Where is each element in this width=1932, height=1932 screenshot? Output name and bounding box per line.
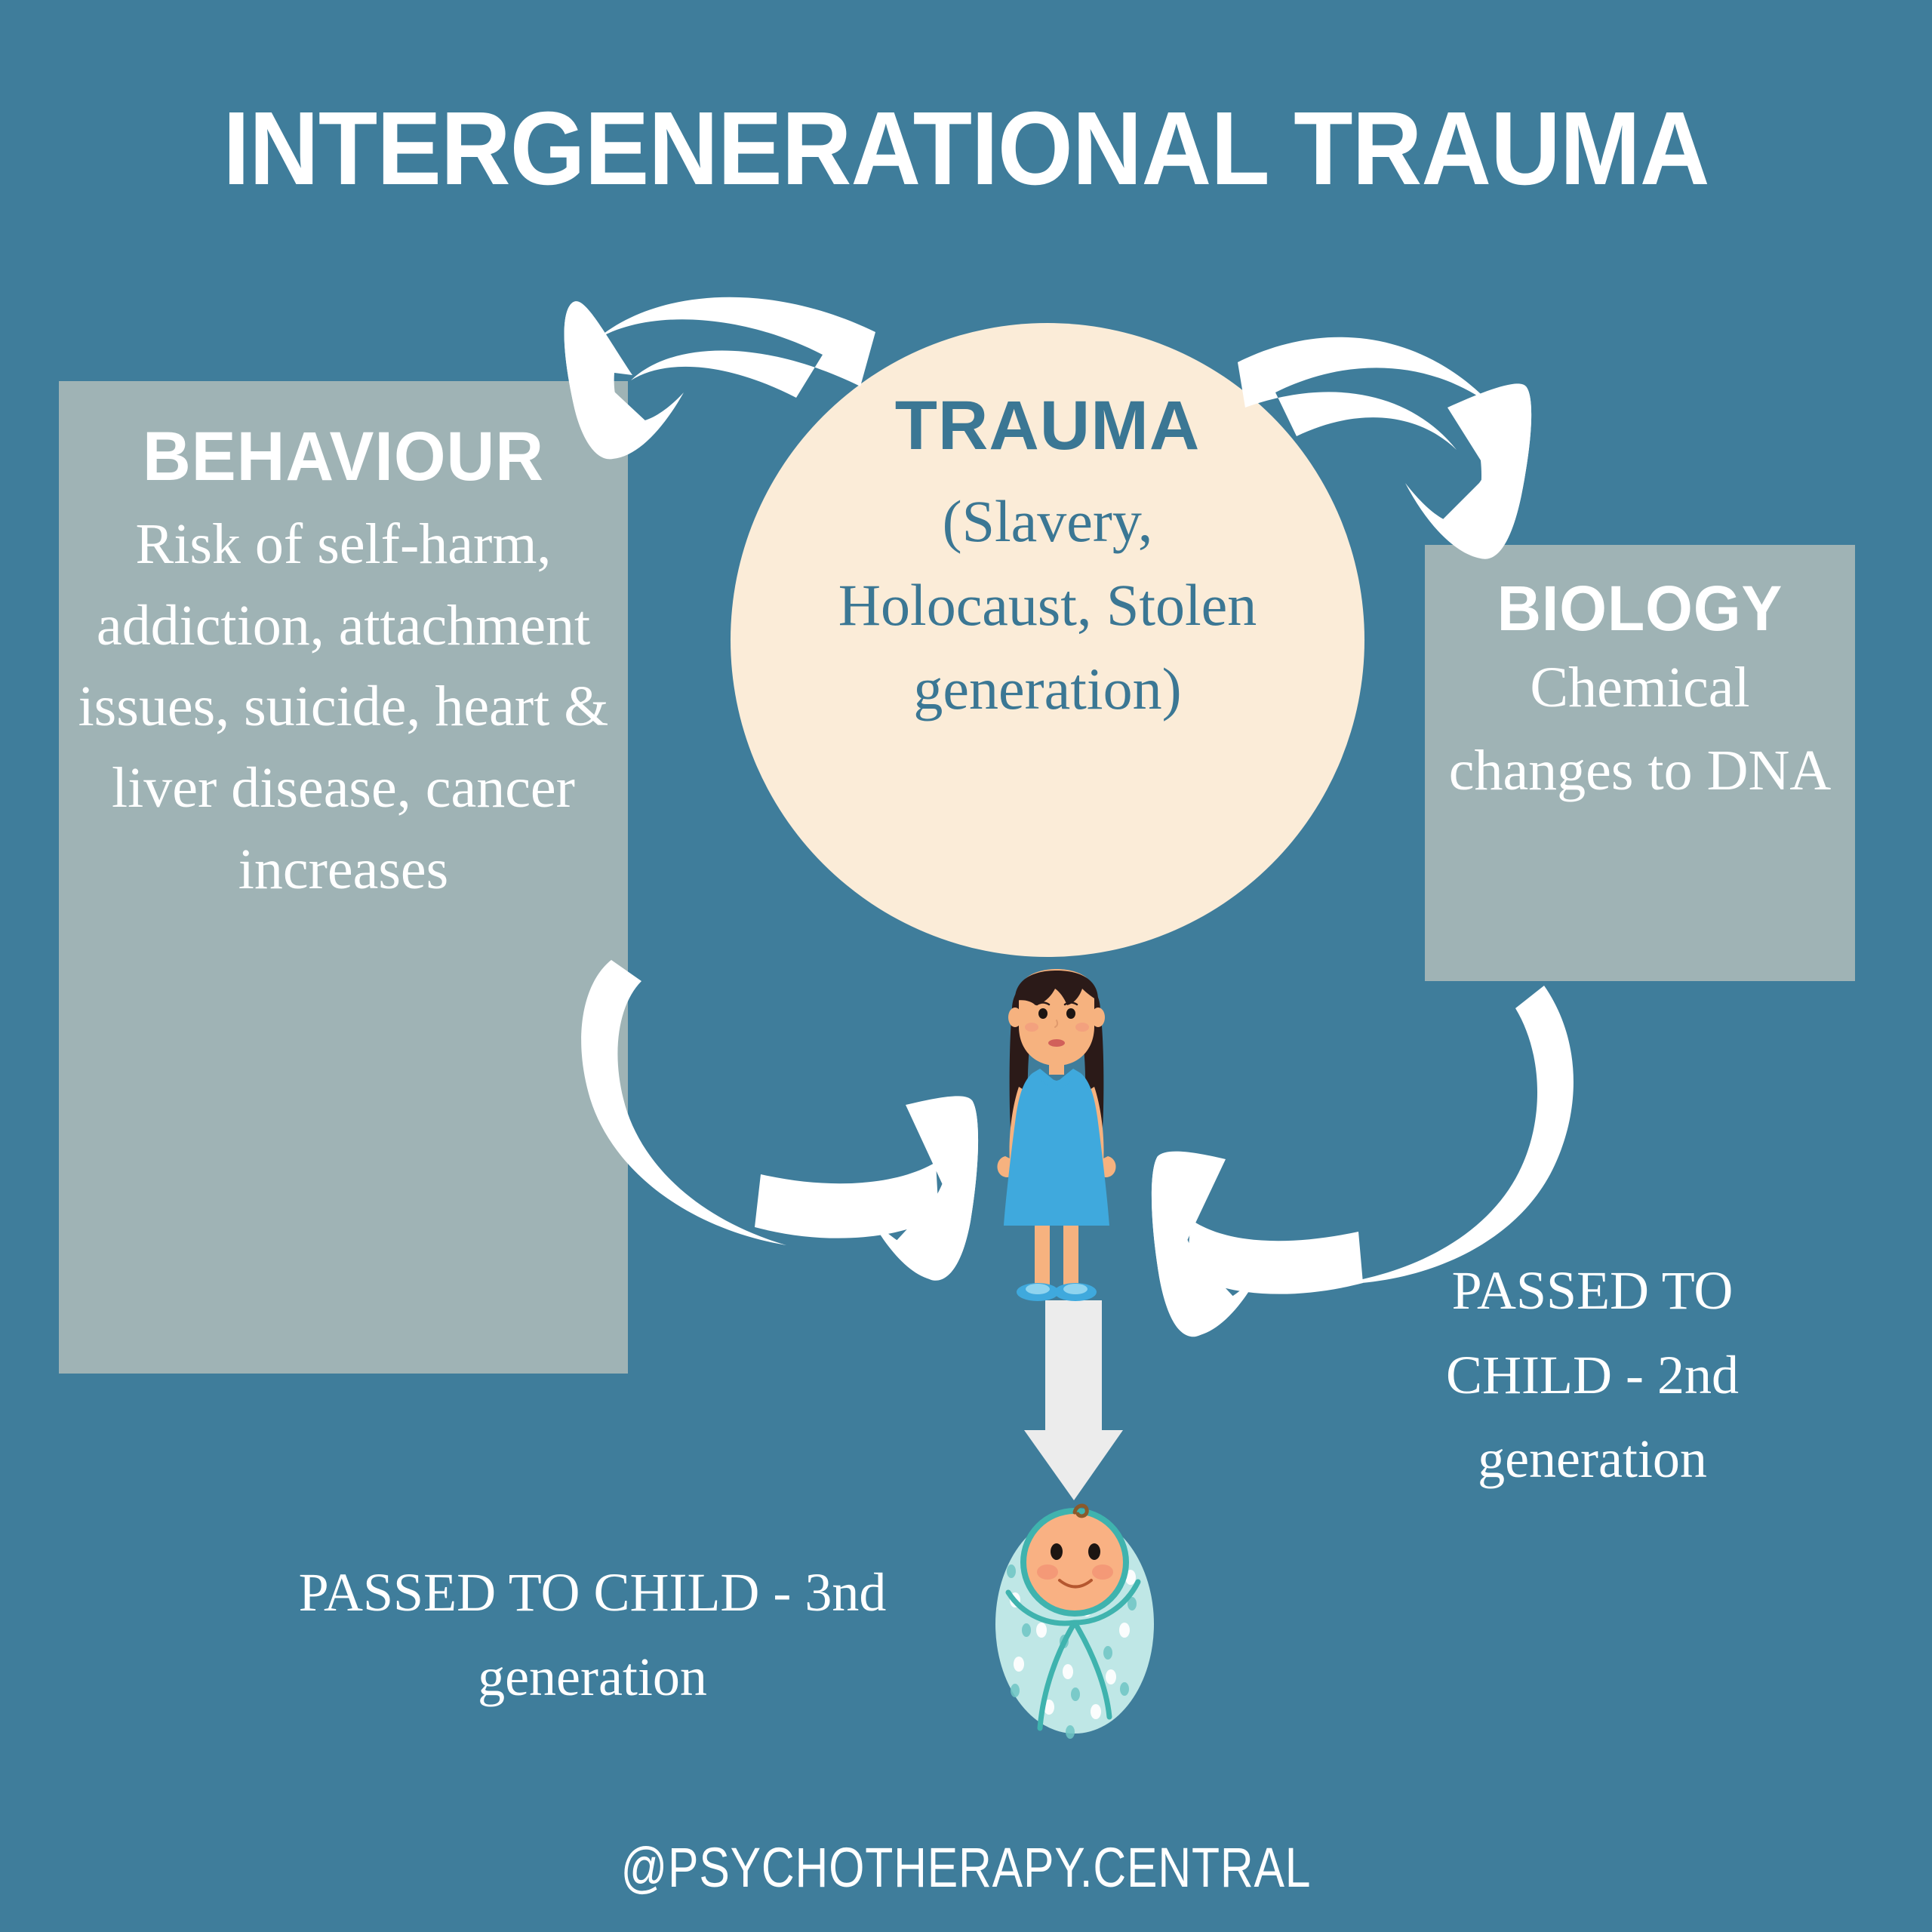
child-to-baby-arrow [1024, 1300, 1123, 1500]
caption-second-generation: PASSED TO CHILD - 2nd generation [1381, 1249, 1804, 1502]
behaviour-panel: BEHAVIOUR Risk of self-harm, addiction, … [59, 381, 628, 1374]
biology-panel: BIOLOGY Chemical changes to DNA [1425, 545, 1855, 981]
page-title: INTERGENERATIONAL TRAUMA [68, 97, 1865, 201]
trauma-circle: TRAUMA (Slavery, Holocaust, Stolen gener… [731, 323, 1364, 957]
girl-figure [997, 969, 1115, 1301]
behaviour-body: Risk of self-harm, addiction, attachment… [77, 504, 610, 912]
infographic-poster: INTERGENERATIONAL TRAUMA BEHAVIOUR Risk … [0, 0, 1932, 1932]
trauma-body: (Slavery, Holocaust, Stolen generation) [731, 480, 1364, 731]
behaviour-to-child-arrow [581, 960, 978, 1281]
footer-handle: @PSYCHOTHERAPY.CENTRAL [174, 1835, 1758, 1900]
biology-heading: BIOLOGY [1445, 575, 1835, 641]
behaviour-heading: BEHAVIOUR [88, 420, 599, 494]
biology-body: Chemical changes to DNA [1437, 646, 1843, 812]
caption-third-generation: PASSED TO CHILD - 3nd generation [279, 1551, 906, 1719]
swaddled-baby-figure [995, 1506, 1154, 1739]
trauma-heading: TRAUMA [731, 391, 1364, 460]
